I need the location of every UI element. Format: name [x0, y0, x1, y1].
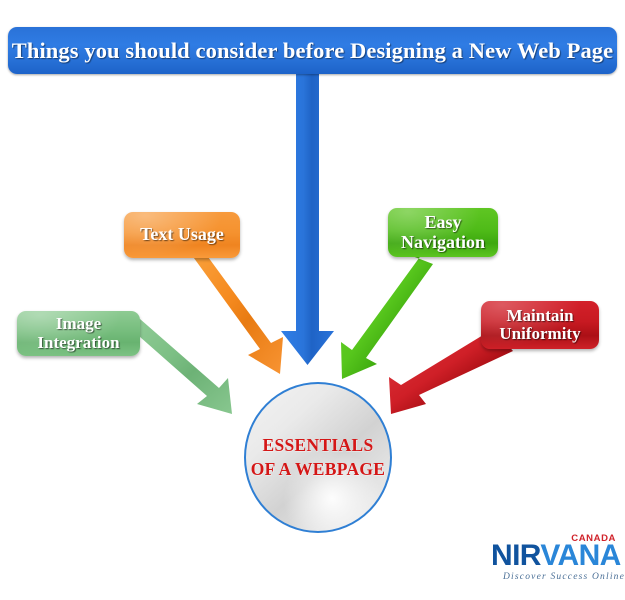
label-line2: Navigation [401, 232, 485, 252]
label-text-usage-text: Text Usage [140, 225, 224, 244]
label-line2: Integration [37, 333, 119, 352]
page-title: Things you should consider before Design… [12, 38, 614, 64]
arrow-main-flow [281, 70, 334, 365]
label-easy-navigation-text: Easy Navigation [401, 213, 485, 252]
logo-nir-text: NIR [491, 539, 540, 572]
title-banner: Things you should consider before Design… [8, 27, 617, 74]
label-maintain-uniformity[interactable]: Maintain Uniformity [481, 301, 599, 349]
label-image-integration-text: Image Integration [37, 315, 119, 352]
center-circle: ESSENTIALS OF A WEBPAGE [244, 382, 392, 533]
infographic-canvas: Things you should consider before Design… [0, 0, 625, 600]
label-easy-navigation[interactable]: Easy Navigation [388, 208, 498, 257]
label-image-integration[interactable]: Image Integration [17, 311, 140, 356]
arrow-easy-navigation [341, 254, 433, 379]
label-line1: Maintain [506, 306, 573, 325]
label-text-usage[interactable]: Text Usage [124, 212, 240, 258]
nirvana-canada-logo: CANADA NIRVANA Discover Success Online [491, 533, 619, 587]
label-line1: Image [56, 314, 101, 333]
center-circle-line2: OF A WEBPAGE [251, 458, 386, 482]
center-circle-line1: ESSENTIALS [263, 434, 374, 458]
label-line2: Uniformity [499, 324, 580, 343]
logo-vana-text: VANA [540, 539, 620, 572]
label-line1: Easy [424, 212, 461, 232]
logo-wordmark: NIRVANA [491, 541, 621, 571]
label-maintain-uniformity-text: Maintain Uniformity [499, 307, 580, 344]
arrow-text-usage [179, 246, 283, 374]
logo-tagline: Discover Success Online [503, 572, 625, 582]
